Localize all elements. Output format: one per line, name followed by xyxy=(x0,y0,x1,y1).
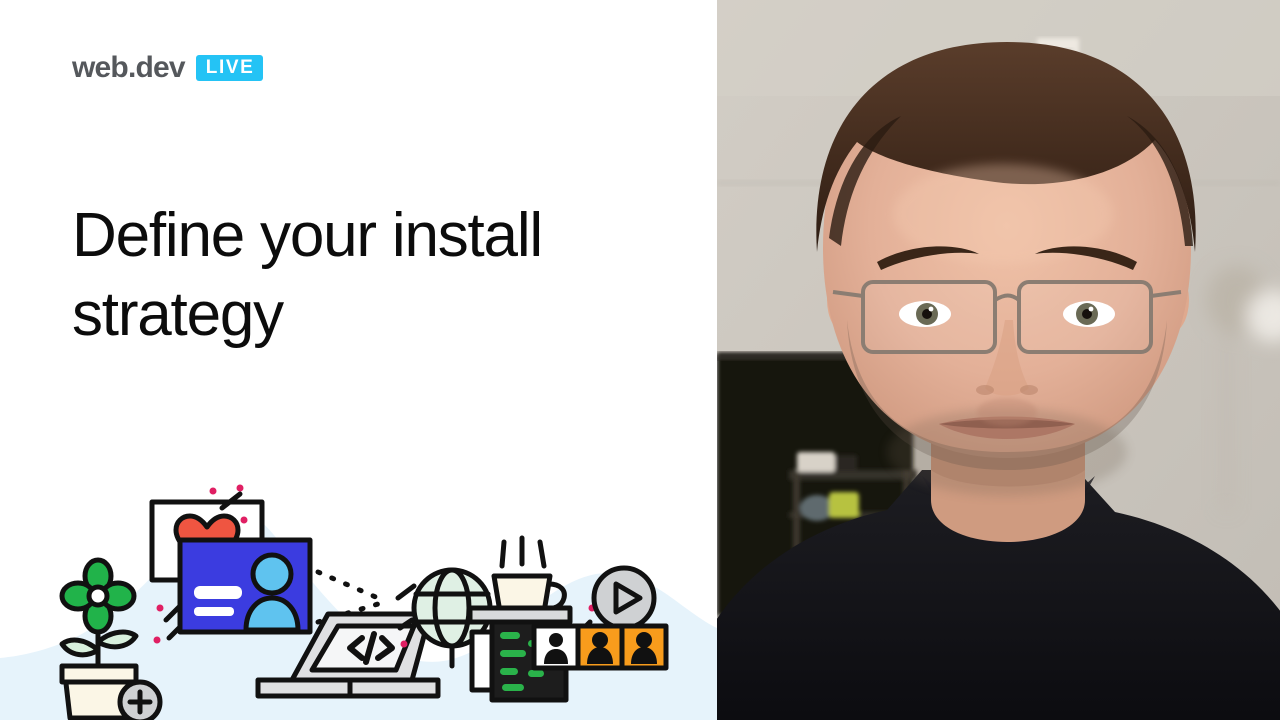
live-badge: LIVE xyxy=(196,55,264,81)
logo-wordmark: web.dev xyxy=(72,53,185,83)
speaker-webcam-image xyxy=(717,0,1280,720)
profile-card-icon xyxy=(180,540,310,632)
web-dev-live-logo: web.dev LIVE xyxy=(72,53,263,83)
slide-title: Define your install strategy xyxy=(72,196,632,355)
play-button-icon xyxy=(594,568,654,628)
avatar-tiles-icon xyxy=(534,626,666,668)
speaker-video-feed[interactable] xyxy=(717,0,1280,720)
potted-plant-icon xyxy=(62,560,160,720)
slide-panel: web.dev LIVE Define your install strateg… xyxy=(0,0,717,720)
slide-illustration xyxy=(0,480,717,720)
presentation-screen: web.dev LIVE Define your install strateg… xyxy=(0,0,1280,720)
spark-dots-left xyxy=(154,605,164,644)
